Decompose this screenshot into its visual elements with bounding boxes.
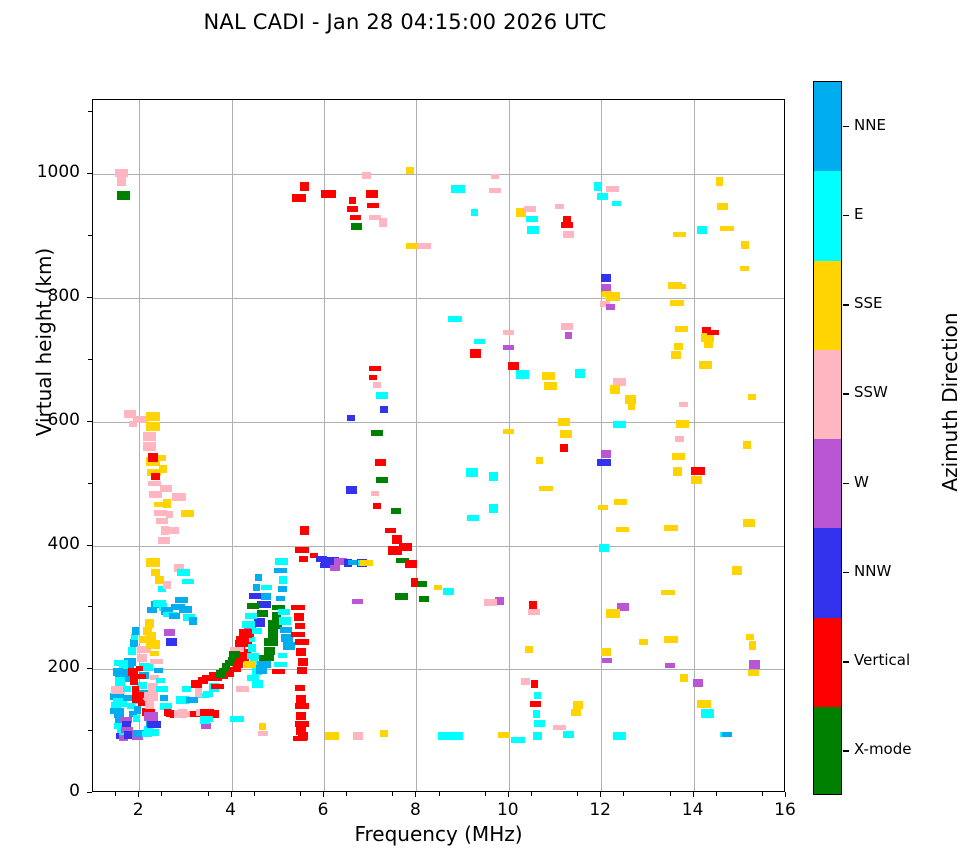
echo-point — [664, 636, 678, 642]
y-tick-minor — [88, 111, 92, 112]
echo-point — [741, 241, 749, 249]
y-tick — [87, 297, 92, 298]
echo-point — [145, 701, 155, 709]
echo-point — [247, 603, 259, 609]
echo-point — [448, 316, 462, 322]
echo-point — [434, 585, 442, 591]
echo-point — [114, 660, 124, 666]
echo-point — [661, 590, 675, 596]
echo-point — [594, 182, 601, 191]
echo-point — [601, 450, 611, 458]
echo-point — [613, 421, 626, 428]
colorbar-segment-e — [814, 171, 841, 260]
echo-point — [526, 216, 538, 222]
echo-point — [275, 558, 288, 565]
echo-point — [264, 647, 274, 655]
echo-point — [616, 527, 628, 533]
echo-point — [606, 186, 620, 192]
echo-point — [528, 609, 540, 615]
echo-point — [298, 658, 308, 666]
y-tick-minor — [88, 730, 92, 731]
echo-point — [679, 402, 687, 408]
echo-point — [740, 266, 748, 272]
echo-point — [369, 375, 378, 380]
echo-point — [115, 677, 125, 685]
echo-point — [253, 584, 261, 590]
x-tick-minor — [670, 792, 671, 796]
echo-point — [216, 670, 224, 678]
echo-point — [147, 721, 160, 728]
echo-point — [179, 606, 192, 613]
colorbar-segment-w — [814, 439, 841, 528]
echo-point — [300, 182, 310, 190]
echo-point — [575, 369, 585, 377]
echo-point — [563, 731, 574, 738]
echo-point — [146, 640, 159, 649]
echo-point — [534, 720, 545, 727]
echo-point — [346, 486, 357, 495]
echo-point — [602, 658, 612, 664]
x-axis-title: Frequency (MHz) — [92, 822, 785, 846]
echo-point — [743, 441, 751, 449]
echo-point — [395, 593, 408, 600]
x-tick-minor — [762, 792, 763, 796]
echo-point — [291, 632, 305, 638]
echo-point — [539, 486, 553, 492]
echo-point — [470, 349, 481, 358]
echo-point — [704, 342, 713, 349]
echo-point — [252, 680, 264, 688]
echo-point — [155, 576, 163, 584]
x-tick-minor — [346, 792, 347, 796]
x-tick-minor — [115, 792, 116, 796]
y-tick-minor — [88, 483, 92, 484]
x-tick — [323, 792, 324, 797]
echo-point — [297, 667, 307, 673]
echo-point — [360, 560, 373, 567]
colorbar-tick — [843, 572, 849, 574]
echo-point — [380, 730, 387, 737]
colorbar-label-e: E — [854, 205, 863, 223]
colorbar-tick — [843, 215, 849, 217]
echo-point — [693, 679, 703, 687]
echo-point — [169, 613, 179, 619]
echo-point — [268, 629, 278, 637]
x-tick-minor — [485, 792, 486, 796]
echo-point — [560, 444, 568, 452]
echo-point — [680, 674, 688, 682]
echo-point — [406, 167, 414, 173]
echo-point — [276, 596, 285, 601]
echo-point — [484, 599, 497, 606]
echo-point — [417, 243, 431, 249]
echo-point — [664, 525, 678, 531]
echo-point — [672, 453, 685, 460]
echo-point — [248, 644, 256, 652]
echo-point — [164, 629, 175, 636]
echo-point — [258, 731, 269, 736]
echo-point — [511, 737, 525, 743]
echo-point — [163, 499, 170, 508]
echo-point — [671, 351, 680, 360]
echo-point — [257, 610, 268, 617]
echo-point — [606, 304, 616, 310]
echo-point — [561, 323, 572, 330]
echo-point — [673, 467, 682, 476]
colorbar-tick — [843, 750, 849, 752]
echo-point — [597, 193, 608, 200]
echo-point — [691, 467, 705, 475]
echo-point — [674, 343, 683, 350]
echo-point — [113, 668, 123, 676]
echo-point — [525, 646, 533, 654]
echo-point — [134, 706, 141, 715]
echo-point — [534, 692, 541, 699]
echo-point — [296, 648, 306, 656]
echo-point — [300, 526, 310, 534]
echo-point — [156, 518, 168, 524]
y-tick — [87, 792, 92, 793]
echo-point — [151, 473, 160, 480]
y-tick-minor — [88, 235, 92, 236]
echo-point — [571, 709, 581, 717]
echo-point — [295, 547, 309, 553]
echo-point — [255, 574, 263, 580]
echo-point — [565, 332, 572, 339]
echo-point — [195, 688, 202, 697]
echo-point — [166, 638, 177, 645]
echo-point — [613, 732, 626, 739]
echo-point — [598, 505, 609, 510]
echo-point — [160, 695, 168, 701]
y-tick — [87, 421, 92, 422]
x-tick-minor — [623, 792, 624, 796]
echo-point — [516, 370, 529, 379]
echo-point — [498, 732, 510, 738]
echo-point — [274, 662, 287, 667]
x-tick-label: 8 — [385, 800, 445, 820]
echo-point — [558, 418, 570, 426]
echo-point — [601, 648, 611, 656]
echo-point — [295, 685, 305, 691]
echo-point — [244, 661, 257, 668]
echo-point — [489, 188, 502, 193]
echo-point — [544, 382, 558, 390]
echo-point — [133, 416, 148, 423]
echo-point — [399, 543, 411, 551]
x-tick-minor — [392, 792, 393, 796]
echo-point — [133, 715, 140, 722]
echo-point — [467, 515, 479, 521]
echo-point — [295, 623, 305, 629]
echo-point — [474, 339, 485, 344]
echo-point — [533, 710, 540, 719]
echo-point — [175, 597, 188, 604]
echo-point — [391, 508, 401, 514]
y-tick-minor — [88, 606, 92, 607]
echo-point — [362, 172, 371, 179]
echo-point — [295, 703, 309, 709]
echo-point — [261, 585, 271, 591]
echo-point — [123, 686, 132, 691]
echo-point — [236, 686, 250, 692]
colorbar-label-vertical: Vertical — [854, 651, 910, 669]
echo-point — [299, 556, 309, 562]
x-tick-label: 2 — [108, 800, 168, 820]
echo-point — [347, 415, 355, 421]
x-tick-label: 10 — [478, 800, 538, 820]
colorbar-segment-vertical — [814, 618, 841, 707]
echo-point — [272, 669, 285, 674]
x-tick-minor — [716, 792, 717, 796]
echo-point — [599, 544, 610, 551]
echo-point — [722, 732, 733, 737]
y-tick-label: 400 — [0, 534, 80, 554]
echo-point — [143, 432, 157, 440]
echo-point — [136, 674, 147, 679]
echo-point — [628, 403, 635, 410]
echo-point — [211, 684, 224, 689]
x-tick — [693, 792, 694, 797]
echo-point — [295, 639, 309, 645]
echo-point — [369, 366, 381, 372]
echo-point — [508, 362, 518, 370]
echo-point — [449, 732, 463, 740]
echo-point — [531, 680, 539, 688]
echo-point — [347, 206, 358, 213]
echo-point — [144, 692, 157, 701]
echo-point — [132, 627, 139, 636]
echo-point — [203, 716, 213, 722]
echo-point — [349, 197, 356, 204]
y-tick-label: 1000 — [0, 162, 80, 182]
echo-point — [699, 361, 712, 370]
echo-point — [182, 686, 191, 691]
echo-point — [159, 465, 167, 473]
colorbar-label-nnw: NNW — [854, 562, 891, 580]
echo-point — [128, 647, 136, 655]
echo-point — [561, 222, 572, 229]
echo-point — [146, 422, 159, 431]
echo-point — [146, 558, 159, 567]
echo-point — [375, 459, 387, 465]
echo-point — [419, 596, 429, 602]
colorbar-segment-nnw — [814, 528, 841, 617]
echo-point — [148, 453, 157, 462]
ionogram-plot-area — [92, 99, 785, 792]
colorbar-segment-x-mode — [814, 707, 841, 795]
echo-point — [707, 330, 719, 336]
y-tick-label: 200 — [0, 657, 80, 677]
x-tick-minor — [300, 792, 301, 796]
echo-point — [325, 732, 339, 740]
echo-point — [249, 593, 261, 599]
echo-point — [376, 477, 387, 484]
echo-point — [292, 194, 306, 202]
echo-point — [156, 678, 164, 684]
x-tick-minor — [577, 792, 578, 796]
echo-point — [117, 191, 130, 200]
echo-point — [254, 618, 265, 627]
echo-point — [294, 613, 304, 621]
data-layer — [93, 100, 784, 791]
x-tick-label: 12 — [570, 800, 630, 820]
echo-point — [296, 695, 306, 703]
echo-point — [451, 185, 465, 193]
azimuth-colorbar — [813, 81, 842, 795]
x-tick — [600, 792, 601, 797]
y-tick — [87, 545, 92, 546]
echo-point — [186, 697, 198, 703]
echo-point — [716, 177, 724, 185]
echo-point — [676, 420, 688, 428]
echo-point — [352, 599, 363, 604]
echo-point — [749, 641, 756, 650]
echo-point — [189, 617, 197, 625]
echo-point — [536, 457, 543, 464]
echo-point — [353, 732, 364, 739]
echo-point — [201, 723, 211, 729]
echo-point — [380, 406, 387, 413]
colorbar-tick — [843, 661, 849, 663]
colorbar-label-sse: SSE — [854, 294, 883, 312]
colorbar-label-w: W — [854, 473, 869, 491]
echo-point — [144, 712, 157, 721]
echo-point — [117, 177, 126, 186]
echo-point — [697, 700, 711, 708]
echo-point — [274, 568, 287, 573]
echo-point — [242, 621, 255, 628]
echo-point — [673, 232, 686, 237]
echo-point — [278, 609, 290, 615]
echo-point — [145, 729, 158, 736]
echo-point — [385, 528, 395, 534]
y-tick — [87, 668, 92, 669]
echo-point — [293, 736, 307, 742]
echo-point — [181, 510, 194, 517]
echo-point — [146, 632, 155, 641]
echo-point — [264, 638, 278, 646]
colorbar-label-x-mode: X-mode — [854, 740, 911, 758]
echo-point — [371, 430, 383, 436]
echo-point — [748, 670, 759, 677]
echo-point — [697, 226, 707, 234]
echo-point — [673, 284, 686, 289]
echo-point — [610, 385, 619, 394]
echo-point — [379, 218, 386, 227]
y-tick-minor — [88, 359, 92, 360]
echo-point — [156, 686, 168, 692]
echo-point — [149, 491, 162, 498]
echo-point — [321, 190, 335, 198]
colorbar-segment-nne — [814, 82, 841, 171]
colorbar-tick — [843, 126, 849, 128]
echo-point — [405, 560, 417, 568]
x-tick-label: 14 — [663, 800, 723, 820]
echo-point — [296, 712, 306, 720]
x-tick-minor — [254, 792, 255, 796]
echo-point — [665, 663, 675, 669]
echo-point — [560, 430, 572, 438]
x-tick-label: 6 — [293, 800, 353, 820]
echo-point — [115, 169, 128, 178]
echo-point — [182, 579, 195, 584]
echo-point — [245, 613, 257, 619]
echo-point — [351, 223, 362, 230]
colorbar-label-ssw: SSW — [854, 383, 888, 401]
echo-point — [553, 725, 565, 731]
echo-point — [503, 330, 514, 335]
echo-point — [137, 654, 148, 661]
echo-point — [283, 642, 295, 650]
echo-point — [529, 601, 537, 609]
echo-point — [489, 504, 498, 513]
x-tick-label: 4 — [201, 800, 261, 820]
echo-point — [614, 499, 626, 505]
echo-point — [278, 586, 286, 592]
echo-point — [373, 503, 381, 509]
echo-point — [279, 617, 291, 625]
echo-point — [376, 392, 387, 399]
x-tick — [415, 792, 416, 797]
echo-point — [146, 412, 159, 421]
echo-point — [542, 372, 556, 380]
echo-point — [524, 206, 536, 212]
echo-point — [350, 215, 361, 220]
echo-point — [136, 666, 143, 671]
echo-point — [417, 581, 427, 587]
echo-point — [527, 226, 539, 234]
echo-point — [748, 394, 755, 401]
echo-point — [639, 639, 648, 646]
echo-point — [466, 468, 478, 476]
echo-point — [151, 569, 160, 576]
y-axis-title: Virtual height (km) — [32, 182, 56, 502]
echo-point — [573, 701, 583, 709]
echo-point — [172, 493, 186, 501]
colorbar-tick — [843, 483, 849, 485]
colorbar-tick — [843, 393, 849, 395]
echo-point — [247, 653, 259, 659]
x-tick — [138, 792, 139, 797]
echo-point — [154, 510, 166, 516]
colorbar-title: Azimuth Direction — [938, 242, 958, 562]
echo-point — [749, 660, 760, 669]
colorbar-label-nne: NNE — [854, 116, 886, 134]
echo-point — [612, 201, 621, 206]
x-tick — [785, 792, 786, 797]
echo-point — [491, 174, 500, 179]
echo-point — [257, 661, 272, 668]
echo-point — [278, 653, 286, 659]
x-tick — [231, 792, 232, 797]
echo-point — [330, 565, 340, 571]
echo-point — [143, 442, 157, 450]
echo-point — [150, 659, 163, 664]
echo-point — [670, 300, 683, 307]
x-tick-minor — [439, 792, 440, 796]
echo-point — [154, 502, 162, 508]
echo-point — [691, 476, 702, 483]
echo-point — [279, 576, 287, 584]
echo-point — [521, 678, 530, 685]
echo-point — [601, 274, 611, 282]
x-tick — [508, 792, 509, 797]
echo-point — [291, 605, 305, 611]
echo-point — [675, 436, 684, 441]
echo-point — [230, 716, 244, 722]
page-title: NAL CADI - Jan 28 04:15:00 2026 UTC — [0, 10, 810, 34]
